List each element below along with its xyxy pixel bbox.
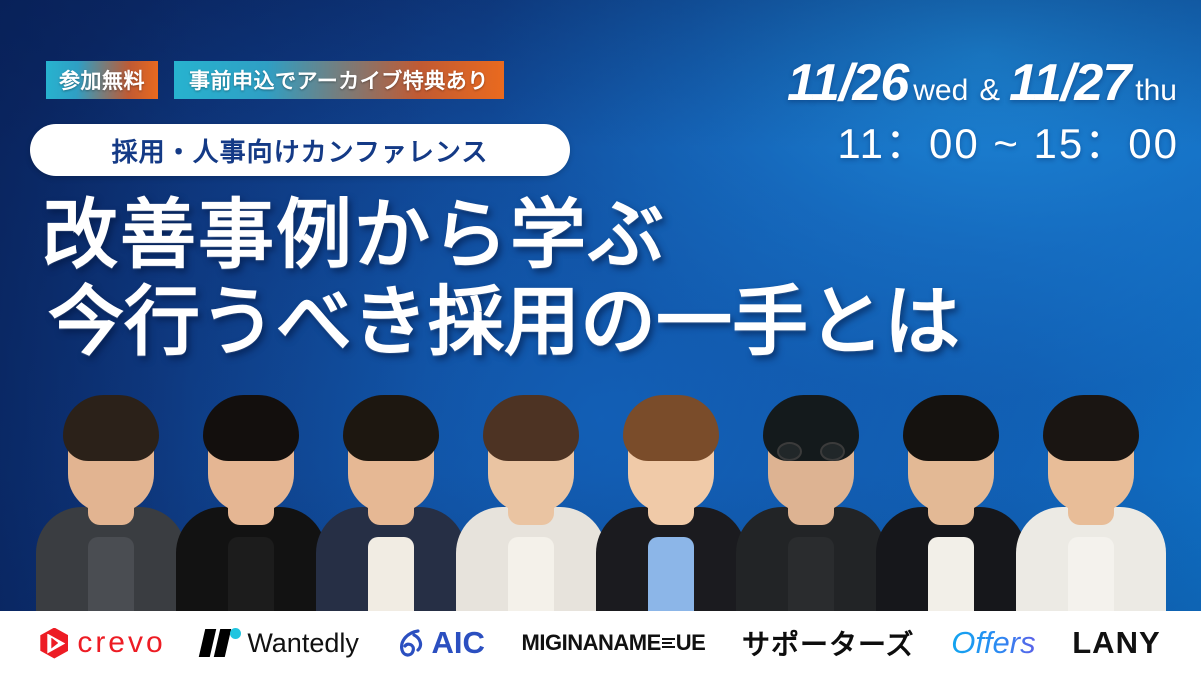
speaker-7-hair (903, 395, 999, 461)
headline: 改善事例から学ぶ 今行うべき採用の一手とは (42, 196, 960, 362)
speaker-3-hair (343, 395, 439, 461)
logo-offers[interactable]: Offers (951, 625, 1035, 661)
speaker-2-hair (203, 395, 299, 461)
glasses-icon (777, 441, 845, 461)
logo-wantedly[interactable]: Wantedly (202, 628, 359, 659)
date-day1-weekday: wed (913, 76, 968, 106)
date-day2-weekday: thu (1135, 76, 1177, 106)
speaker-2-inner (228, 537, 274, 611)
logo-miginanameue-text-before: MIGINANAME (522, 630, 661, 656)
speaker-1 (35, 396, 187, 611)
speaker-3 (315, 396, 467, 611)
speaker-4 (455, 396, 607, 611)
speaker-5-inner (648, 537, 694, 611)
logo-crevo[interactable]: crevo (40, 626, 165, 660)
speaker-5 (595, 396, 747, 611)
event-banner: 参加無料 事前申込でアーカイブ特典あり 採用・人事向けカンファレンス 11/26… (0, 0, 1201, 675)
speaker-8 (1015, 396, 1167, 611)
speaker-7-inner (928, 537, 974, 611)
wantedly-w-icon (202, 629, 240, 657)
speaker-1-inner (88, 537, 134, 611)
logo-lany-text: LANY (1072, 625, 1160, 661)
speaker-8-hair (1043, 395, 1139, 461)
speaker-6-inner (788, 537, 834, 611)
headline-line-1: 改善事例から学ぶ (42, 196, 960, 275)
date-separator: & (979, 74, 1000, 105)
event-time: 11：00 ~ 15：00 (787, 123, 1179, 165)
sponsor-logo-bar: crevo Wantedly AIC MIGINANAME UE サポーターズ (0, 611, 1201, 675)
date-day1-number: 11/26 (787, 57, 908, 109)
miginanameue-bars-icon (662, 638, 675, 648)
logo-supporters[interactable]: サポーターズ (742, 623, 915, 663)
badge-archive-bonus: 事前申込でアーカイブ特典あり (174, 61, 504, 99)
badge-free: 参加無料 (46, 61, 158, 99)
event-date-block: 11/26 wed & 11/27 thu 11：00 ~ 15：00 (787, 57, 1179, 165)
speaker-4-hair (483, 395, 579, 461)
speaker-1-hair (63, 395, 159, 461)
speaker-photo-row (0, 396, 1201, 611)
speaker-8-inner (1068, 537, 1114, 611)
conference-category-pill: 採用・人事向けカンファレンス (30, 124, 570, 176)
logo-offers-text: Offers (951, 625, 1035, 661)
crevo-hexagon-icon (40, 628, 68, 659)
speaker-3-inner (368, 537, 414, 611)
logo-jaic-text: AIC (432, 625, 485, 661)
speaker-7 (875, 396, 1027, 611)
logo-miginanameue[interactable]: MIGINANAME UE (522, 630, 706, 656)
event-dates: 11/26 wed & 11/27 thu (787, 57, 1179, 109)
logo-miginanameue-text-after: UE (676, 630, 706, 656)
badge-row: 参加無料 事前申込でアーカイブ特典あり (46, 61, 504, 99)
logo-wantedly-text: Wantedly (247, 628, 359, 659)
jaic-swirl-icon (396, 626, 430, 660)
speaker-2 (175, 396, 327, 611)
logo-lany[interactable]: LANY (1072, 625, 1160, 661)
speaker-6 (735, 396, 887, 611)
logo-crevo-text: crevo (77, 626, 165, 660)
date-day2-number: 11/27 (1009, 57, 1130, 109)
logo-jaic[interactable]: AIC (396, 625, 485, 661)
logo-supporters-text: サポーターズ (742, 623, 915, 663)
speaker-5-hair (623, 395, 719, 461)
headline-line-2: 今行うべき採用の一手とは (48, 283, 960, 362)
speaker-4-inner (508, 537, 554, 611)
